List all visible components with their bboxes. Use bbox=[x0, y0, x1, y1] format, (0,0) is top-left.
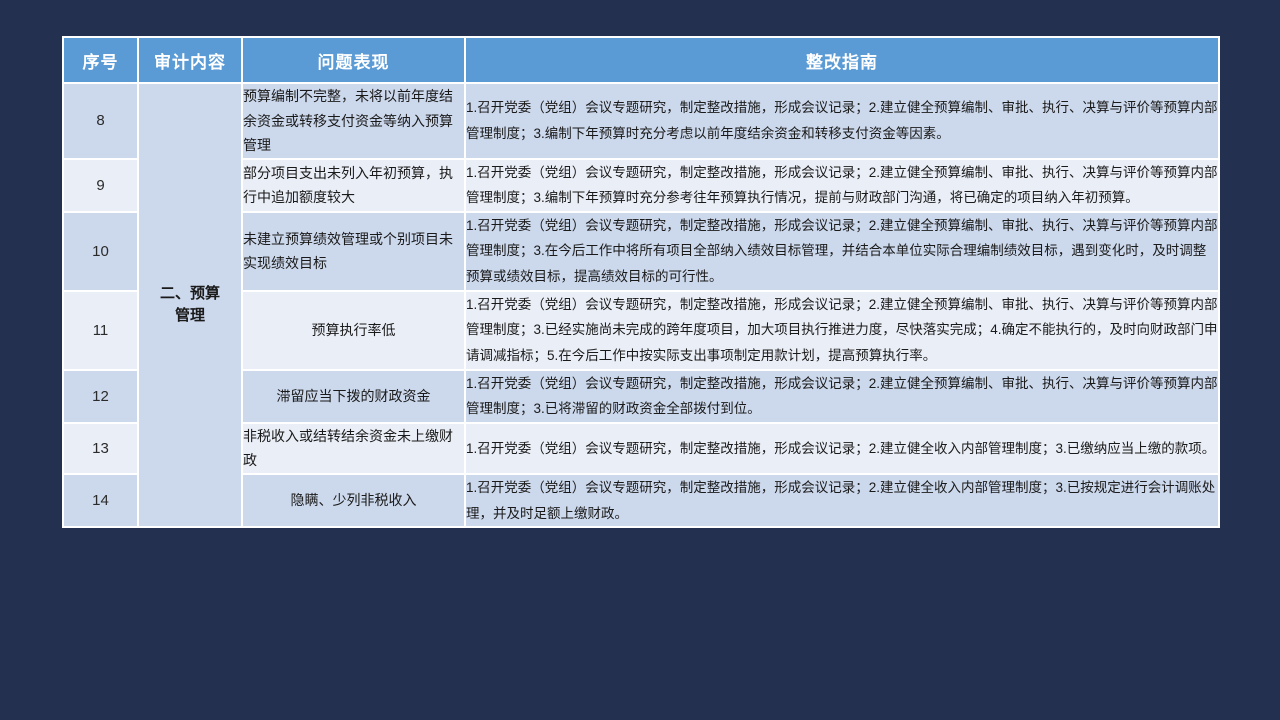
cell-issue: 部分项目支出未列入年初预算，执行中追加额度较大 bbox=[243, 160, 464, 211]
column-header-guide: 整改指南 bbox=[466, 38, 1218, 82]
cell-guide: 1.召开党委（党组）会议专题研究，制定整改措施，形成会议记录；2.建立健全收入内… bbox=[466, 475, 1218, 526]
audit-table-container: 序号 审计内容 问题表现 整改指南 8 二、预算 管理 预算编制不完整，未将以前… bbox=[62, 36, 1218, 528]
column-header-issue: 问题表现 bbox=[243, 38, 464, 82]
cell-guide: 1.召开党委（党组）会议专题研究，制定整改措施，形成会议记录；2.建立健全预算编… bbox=[466, 292, 1218, 369]
cell-issue: 滞留应当下拨的财政资金 bbox=[243, 371, 464, 422]
table-header-row: 序号 审计内容 问题表现 整改指南 bbox=[64, 38, 1218, 82]
cell-guide: 1.召开党委（党组）会议专题研究，制定整改措施，形成会议记录；2.建立健全预算编… bbox=[466, 371, 1218, 422]
cell-issue: 预算编制不完整，未将以前年度结余资金或转移支付资金等纳入预算管理 bbox=[243, 84, 464, 158]
cell-issue: 未建立预算绩效管理或个别项目未实现绩效目标 bbox=[243, 213, 464, 290]
table-row: 8 二、预算 管理 预算编制不完整，未将以前年度结余资金或转移支付资金等纳入预算… bbox=[64, 84, 1218, 158]
cell-guide: 1.召开党委（党组）会议专题研究，制定整改措施，形成会议记录；2.建立健全收入内… bbox=[466, 424, 1218, 473]
cell-guide: 1.召开党委（党组）会议专题研究，制定整改措施，形成会议记录；2.建立健全预算编… bbox=[466, 160, 1218, 211]
cell-index: 14 bbox=[64, 475, 137, 526]
category-line-1: 二、预算 bbox=[160, 285, 220, 302]
cell-index: 8 bbox=[64, 84, 137, 158]
cell-issue: 隐瞒、少列非税收入 bbox=[243, 475, 464, 526]
slide-canvas: 序号 审计内容 问题表现 整改指南 8 二、预算 管理 预算编制不完整，未将以前… bbox=[0, 0, 1280, 720]
cell-index: 10 bbox=[64, 213, 137, 290]
table-body: 8 二、预算 管理 预算编制不完整，未将以前年度结余资金或转移支付资金等纳入预算… bbox=[64, 84, 1218, 526]
audit-rectification-table: 序号 审计内容 问题表现 整改指南 8 二、预算 管理 预算编制不完整，未将以前… bbox=[62, 36, 1220, 528]
category-line-2: 管理 bbox=[175, 307, 205, 324]
cell-issue: 非税收入或结转结余资金未上缴财政 bbox=[243, 424, 464, 473]
column-header-category: 审计内容 bbox=[139, 38, 241, 82]
cell-guide: 1.召开党委（党组）会议专题研究，制定整改措施，形成会议记录；2.建立健全预算编… bbox=[466, 213, 1218, 290]
cell-issue: 预算执行率低 bbox=[243, 292, 464, 369]
table-header: 序号 审计内容 问题表现 整改指南 bbox=[64, 38, 1218, 82]
cell-index: 11 bbox=[64, 292, 137, 369]
cell-guide: 1.召开党委（党组）会议专题研究，制定整改措施，形成会议记录；2.建立健全预算编… bbox=[466, 84, 1218, 158]
cell-category-budget-management: 二、预算 管理 bbox=[139, 84, 241, 526]
column-header-index: 序号 bbox=[64, 38, 137, 82]
cell-index: 12 bbox=[64, 371, 137, 422]
cell-index: 13 bbox=[64, 424, 137, 473]
cell-index: 9 bbox=[64, 160, 137, 211]
